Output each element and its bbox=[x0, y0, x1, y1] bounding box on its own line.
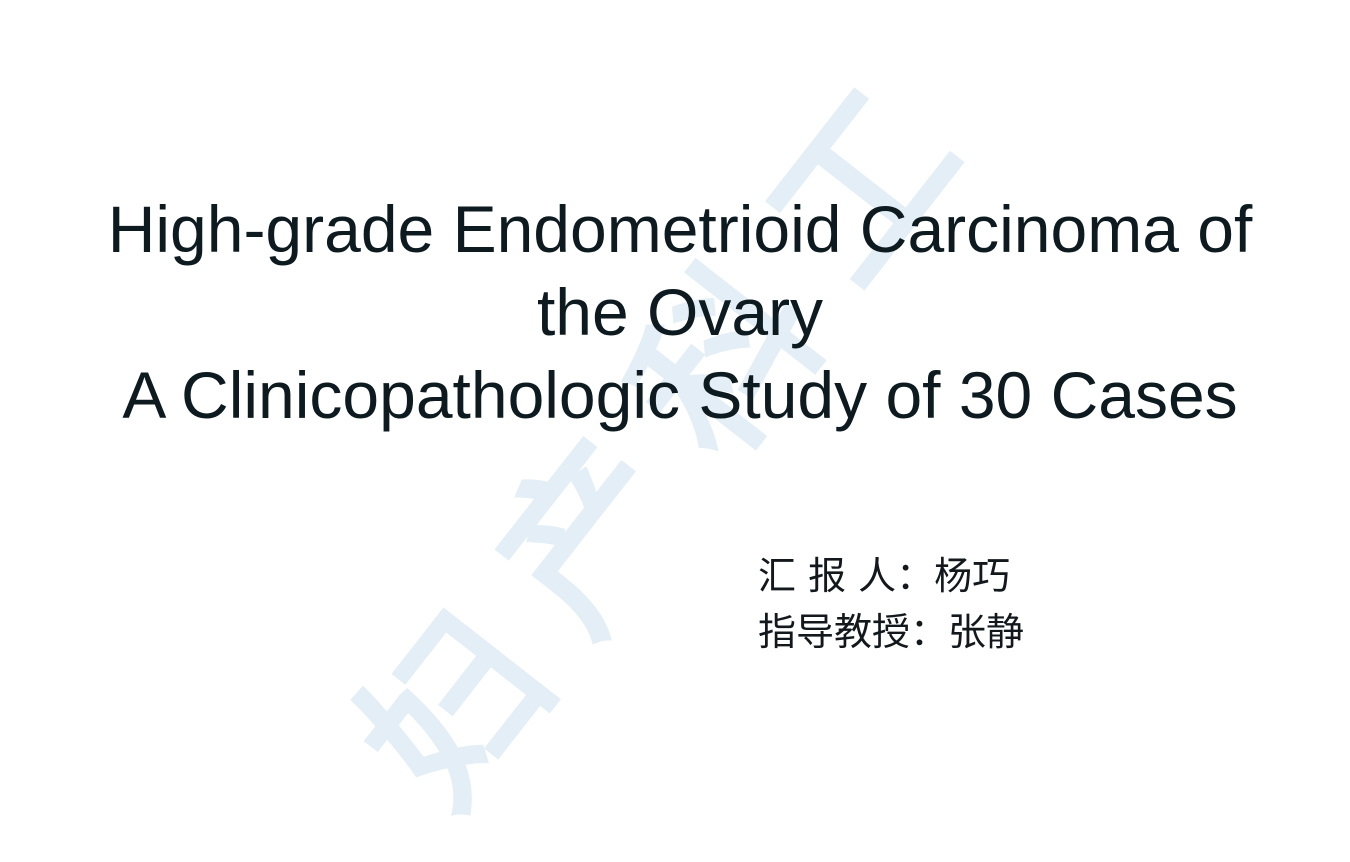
title-line-1: High-grade Endometrioid Carcinoma of bbox=[40, 188, 1320, 271]
title-line-2: the Ovary bbox=[40, 271, 1320, 354]
byline-advisor: 指导教授：张静 bbox=[758, 604, 1024, 660]
slide-byline: 汇 报 人：杨巧 指导教授：张静 bbox=[758, 548, 1024, 660]
byline-presenter: 汇 报 人：杨巧 bbox=[758, 548, 1024, 604]
presentation-title-slide: 妇产科工 High-grade Endometrioid Carcinoma o… bbox=[0, 0, 1350, 862]
title-line-3: A Clinicopathologic Study of 30 Cases bbox=[40, 354, 1320, 437]
slide-content: High-grade Endometrioid Carcinoma of the… bbox=[0, 0, 1350, 862]
slide-title: High-grade Endometrioid Carcinoma of the… bbox=[40, 188, 1320, 437]
